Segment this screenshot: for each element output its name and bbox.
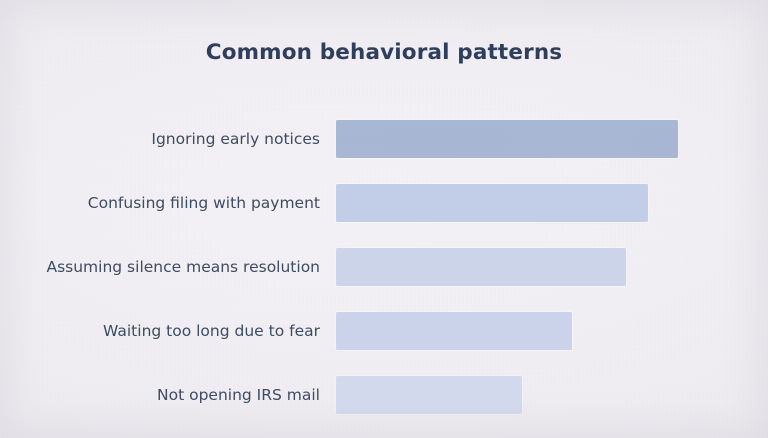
bar-row: Waiting too long due to fear (0, 312, 768, 350)
bar-row: Assuming silence means resolution (0, 248, 768, 286)
bar-category-label: Not opening IRS mail (0, 376, 320, 414)
bar-track (336, 312, 572, 350)
bar-fill (336, 184, 648, 222)
bar-category-label: Assuming silence means resolution (0, 248, 320, 286)
bar-row: Confusing filing with payment (0, 184, 768, 222)
bar-fill (336, 248, 626, 286)
bar-category-label: Ignoring early notices (0, 120, 320, 158)
chart-canvas: Common behavioral patterns Ignoring earl… (0, 0, 768, 438)
bar-category-label: Confusing filing with payment (0, 184, 320, 222)
bar-track (336, 376, 522, 414)
bar-track (336, 184, 648, 222)
bar-category-label: Waiting too long due to fear (0, 312, 320, 350)
bar-chart-plot-area: Ignoring early noticesConfusing filing w… (0, 0, 768, 438)
bar-fill (336, 120, 678, 158)
bar-fill (336, 312, 572, 350)
bar-row: Ignoring early notices (0, 120, 768, 158)
bar-fill (336, 376, 522, 414)
bar-track (336, 248, 626, 286)
bar-row: Not opening IRS mail (0, 376, 768, 414)
bar-track (336, 120, 678, 158)
